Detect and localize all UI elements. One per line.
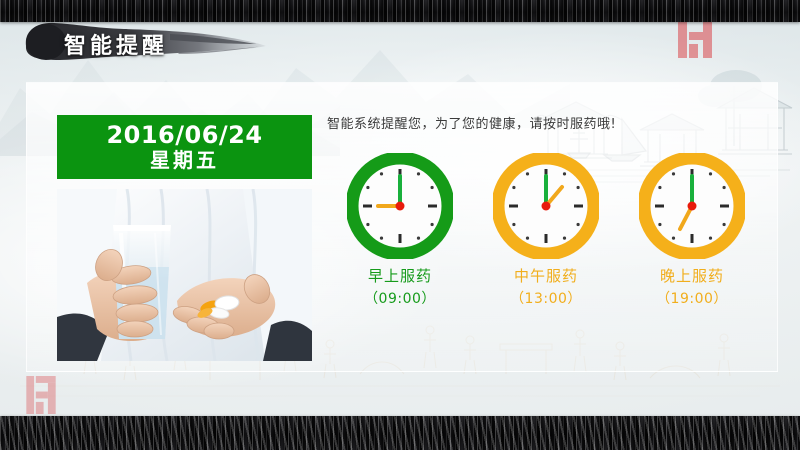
brand-watermark-logo-bottom-left <box>26 376 56 418</box>
clock-label-morning: 早上服药 <box>368 265 432 286</box>
clock-time-morning: （09:00） <box>364 288 436 308</box>
date-value: 2016/06/24 <box>106 123 262 148</box>
right-column: 智能系统提醒您，为了您的健康，请按时服药哦! <box>327 113 757 132</box>
clock-time-noon: （13:00） <box>510 288 582 308</box>
top-roof-tile-border <box>0 0 800 22</box>
clock-time-evening: （19:00） <box>656 288 728 308</box>
analog-clock-icon-noon <box>493 153 599 259</box>
clock-card-evening[interactable]: 晚上服药 （19:00） <box>619 153 765 308</box>
bottom-roof-tile-border <box>0 416 800 450</box>
clock-label-evening: 晚上服药 <box>660 265 724 286</box>
date-badge: 2016/06/24 星期五 <box>57 115 312 179</box>
slide-stage: 智能提醒 2016/06/24 星期五 <box>0 0 800 450</box>
weekday-value: 星期五 <box>150 150 219 171</box>
clock-row: 早上服药 （09:00） <box>327 153 767 308</box>
medication-photo <box>57 189 312 361</box>
page-title-text: 智能提醒 <box>64 28 168 60</box>
content-panel: 2016/06/24 星期五 <box>26 82 778 372</box>
left-column: 2016/06/24 星期五 <box>57 115 312 361</box>
page-title: 智能提醒 <box>20 16 270 70</box>
analog-clock-icon-evening <box>639 153 745 259</box>
clock-card-noon[interactable]: 中午服药 （13:00） <box>473 153 619 308</box>
clock-card-morning[interactable]: 早上服药 （09:00） <box>327 153 473 308</box>
clock-label-noon: 中午服药 <box>514 265 578 286</box>
analog-clock-icon-morning <box>347 153 453 259</box>
reminder-notice-text: 智能系统提醒您，为了您的健康，请按时服药哦! <box>327 113 757 132</box>
